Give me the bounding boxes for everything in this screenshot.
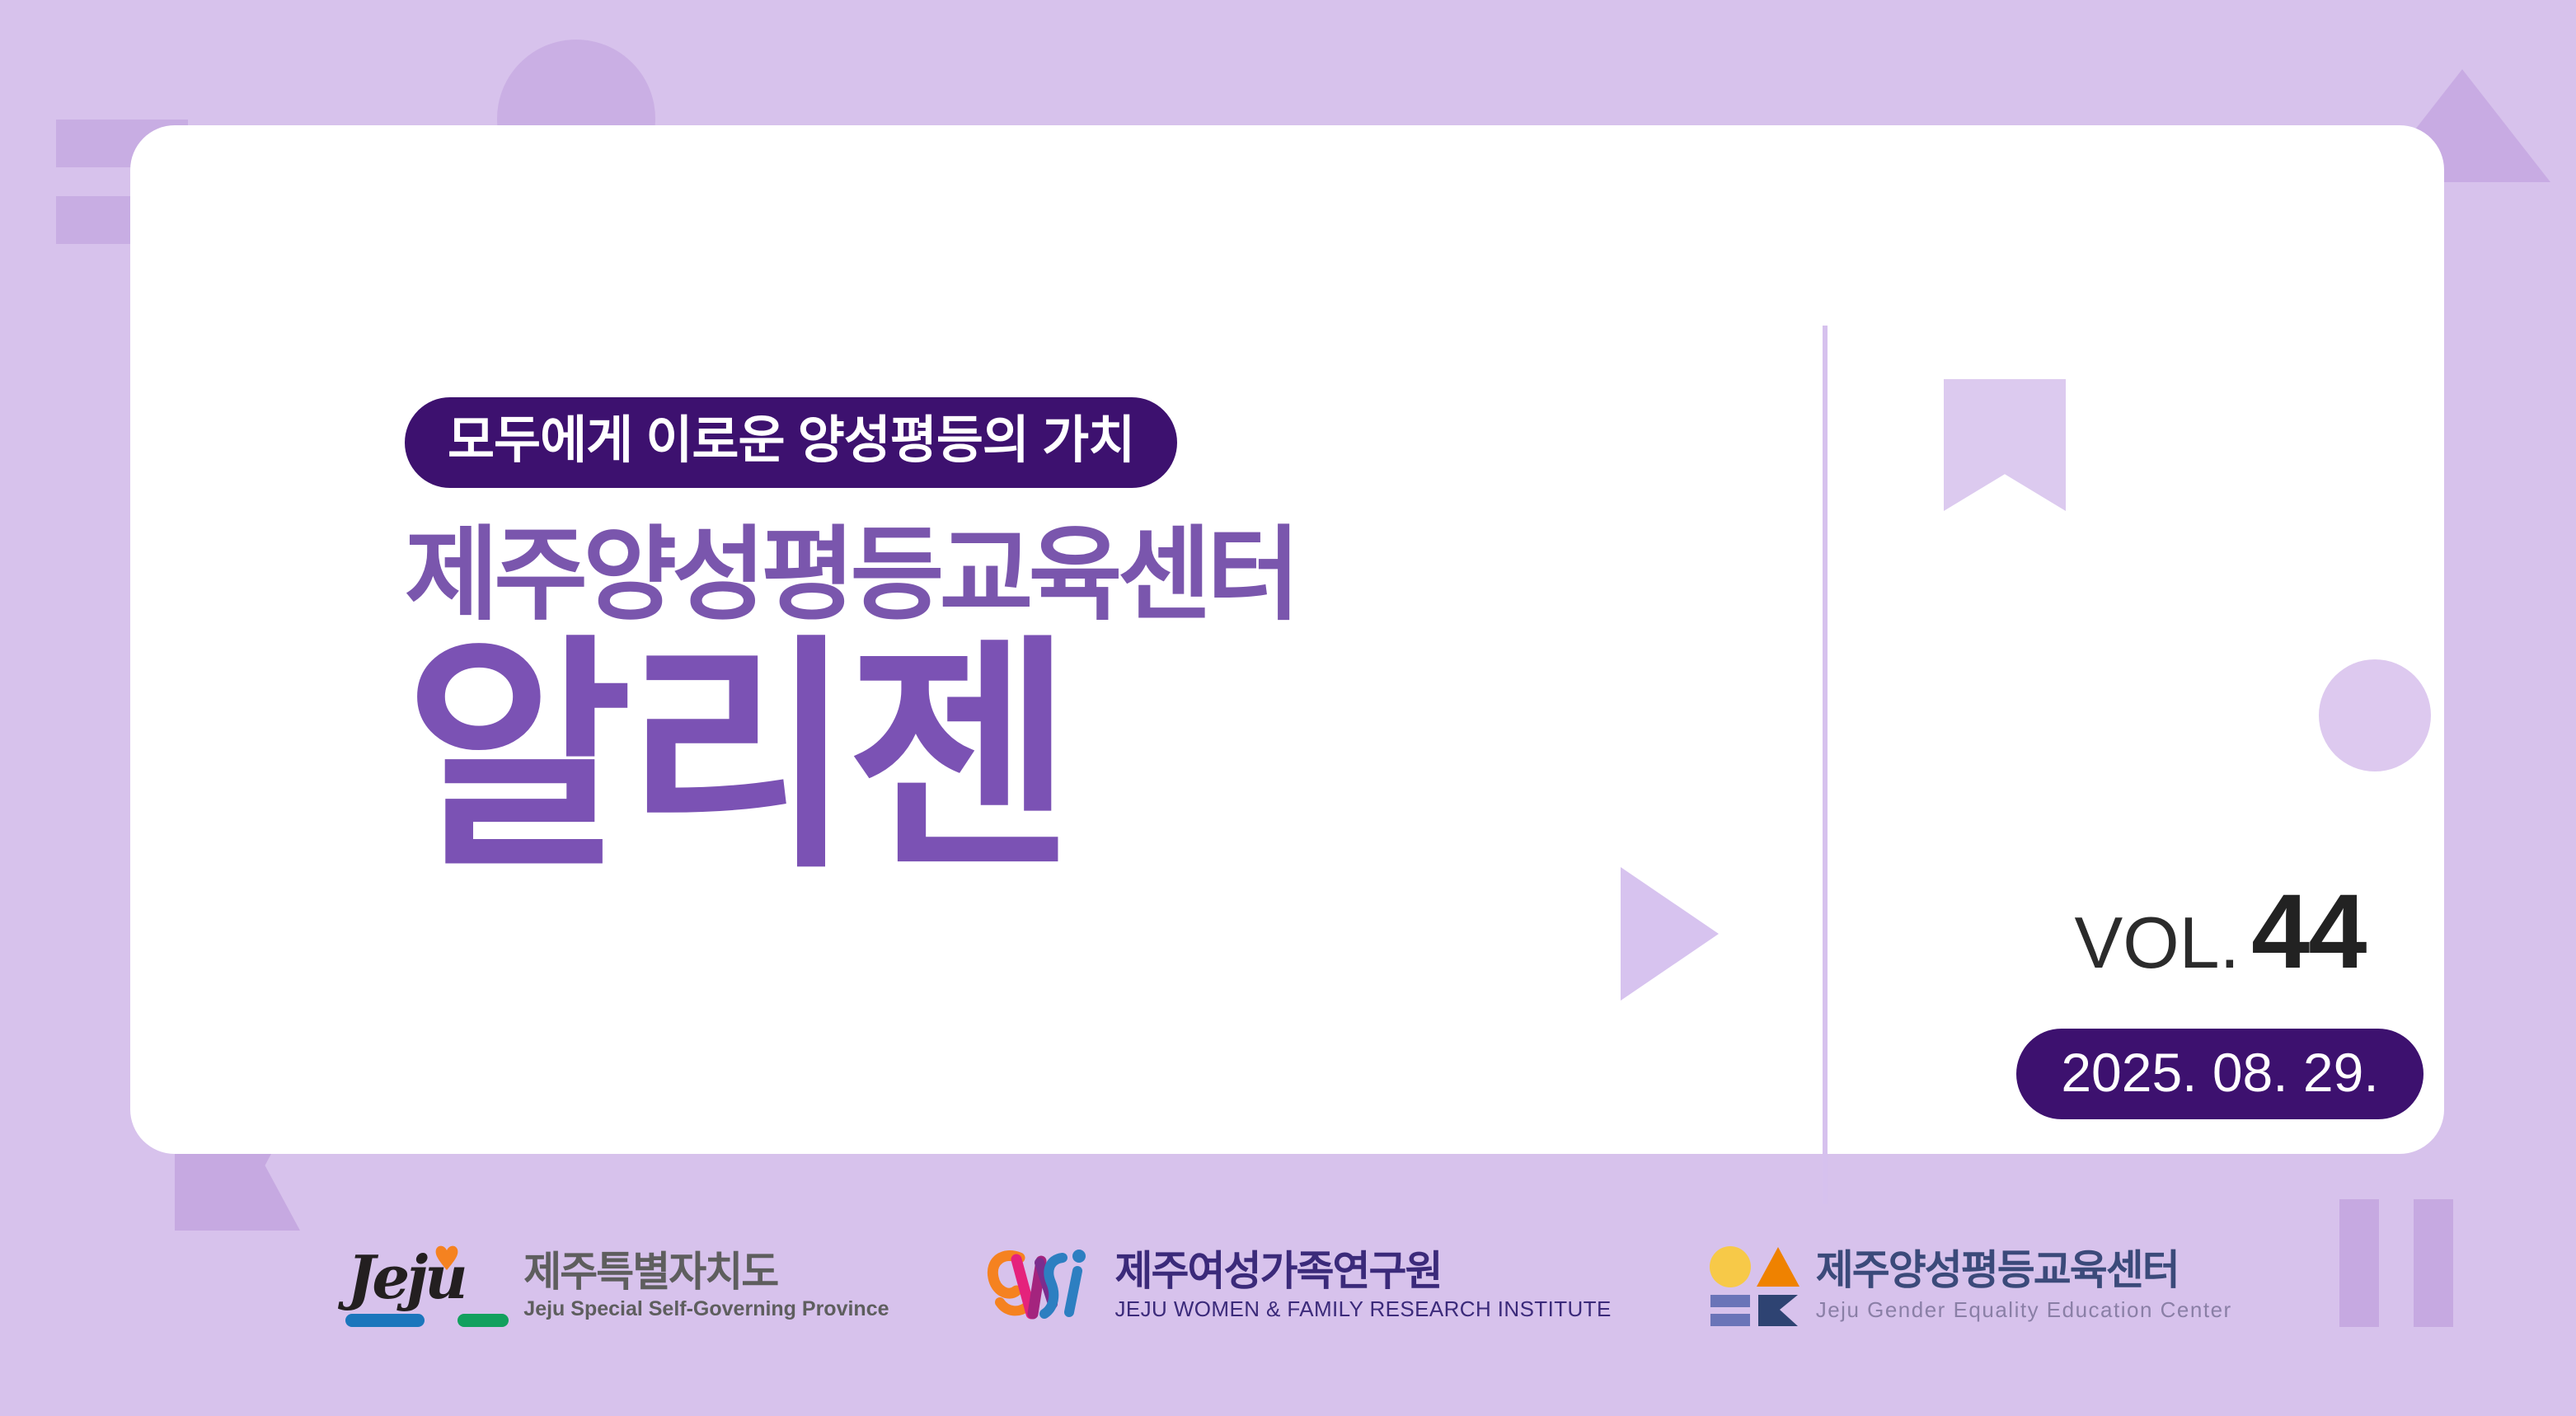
issue-date-badge: 2025. 08. 29.	[2016, 1029, 2423, 1119]
logo-jeju-province-name-en: Jeju Special Self-Governing Province	[523, 1297, 889, 1321]
jgeec-shapes-logo-icon	[1709, 1244, 1801, 1328]
issue-meta-block: VOL. 44 2025. 08. 29.	[1882, 871, 2558, 1119]
brand-title: 알리젠	[405, 631, 1773, 884]
logo-jgeec-name-kr: 제주양성평등교육센터	[1816, 1249, 2232, 1292]
logo-jwfi: 제주여성가족연구원 JEJU WOMEN & FAMILY RESEARCH I…	[987, 1243, 1612, 1329]
volume-number: 44	[2251, 871, 2365, 992]
logo-jwfi-text: 제주여성가족연구원 JEJU WOMEN & FAMILY RESEARCH I…	[1115, 1250, 1612, 1323]
logo-jeju-province-name-kr: 제주특별자치도	[523, 1250, 889, 1294]
logo-jwfi-name-en: JEJU WOMEN & FAMILY RESEARCH INSTITUTE	[1115, 1296, 1612, 1322]
logo-jeju-province: Jeju 제주특별자치도 Jeju Special Self-Governing…	[344, 1243, 889, 1329]
jeju-brush-logo-icon: Jeju	[344, 1243, 509, 1329]
logo-jgeec: 제주양성평등교육센터 Jeju Gender Equality Educatio…	[1709, 1244, 2232, 1328]
logo-jeju-province-text: 제주특별자치도 Jeju Special Self-Governing Prov…	[523, 1250, 889, 1322]
vertical-divider	[1823, 326, 1828, 1204]
newsletter-banner: 모두에게 이로운 양성평등의 가치 제주양성평등교육센터 알리젠 VOL. 44…	[0, 0, 2576, 1416]
volume-row: VOL. 44	[2075, 871, 2366, 992]
logo-jgeec-name-en: Jeju Gender Equality Education Center	[1816, 1297, 2232, 1323]
jeju-blue-brush-stroke	[345, 1314, 425, 1327]
logo-jwfi-name-kr: 제주여성가족연구원	[1115, 1250, 1612, 1293]
jwfi-swoosh-logo-icon	[987, 1243, 1100, 1329]
footer-logo-bar: Jeju 제주특별자치도 Jeju Special Self-Governing…	[0, 1212, 2576, 1360]
heart-icon	[433, 1243, 461, 1271]
jeju-green-brush-stroke	[457, 1314, 509, 1327]
title-block: 모두에게 이로운 양성평등의 가치 제주양성평등교육센터 알리젠	[405, 397, 1773, 884]
logo-jgeec-text: 제주양성평등교육센터 Jeju Gender Equality Educatio…	[1816, 1249, 2232, 1323]
volume-label: VOL.	[2075, 901, 2241, 985]
center-name: 제주양성평등교육센터	[405, 524, 1773, 626]
tagline-badge: 모두에게 이로운 양성평등의 가치	[405, 397, 1177, 488]
play-triangle-icon	[1621, 867, 1719, 1001]
main-card: 모두에게 이로운 양성평등의 가치 제주양성평등교육센터 알리젠 VOL. 44…	[130, 125, 2444, 1154]
bookmark-icon	[1944, 379, 2066, 511]
circle-decoration-right	[2319, 659, 2431, 771]
